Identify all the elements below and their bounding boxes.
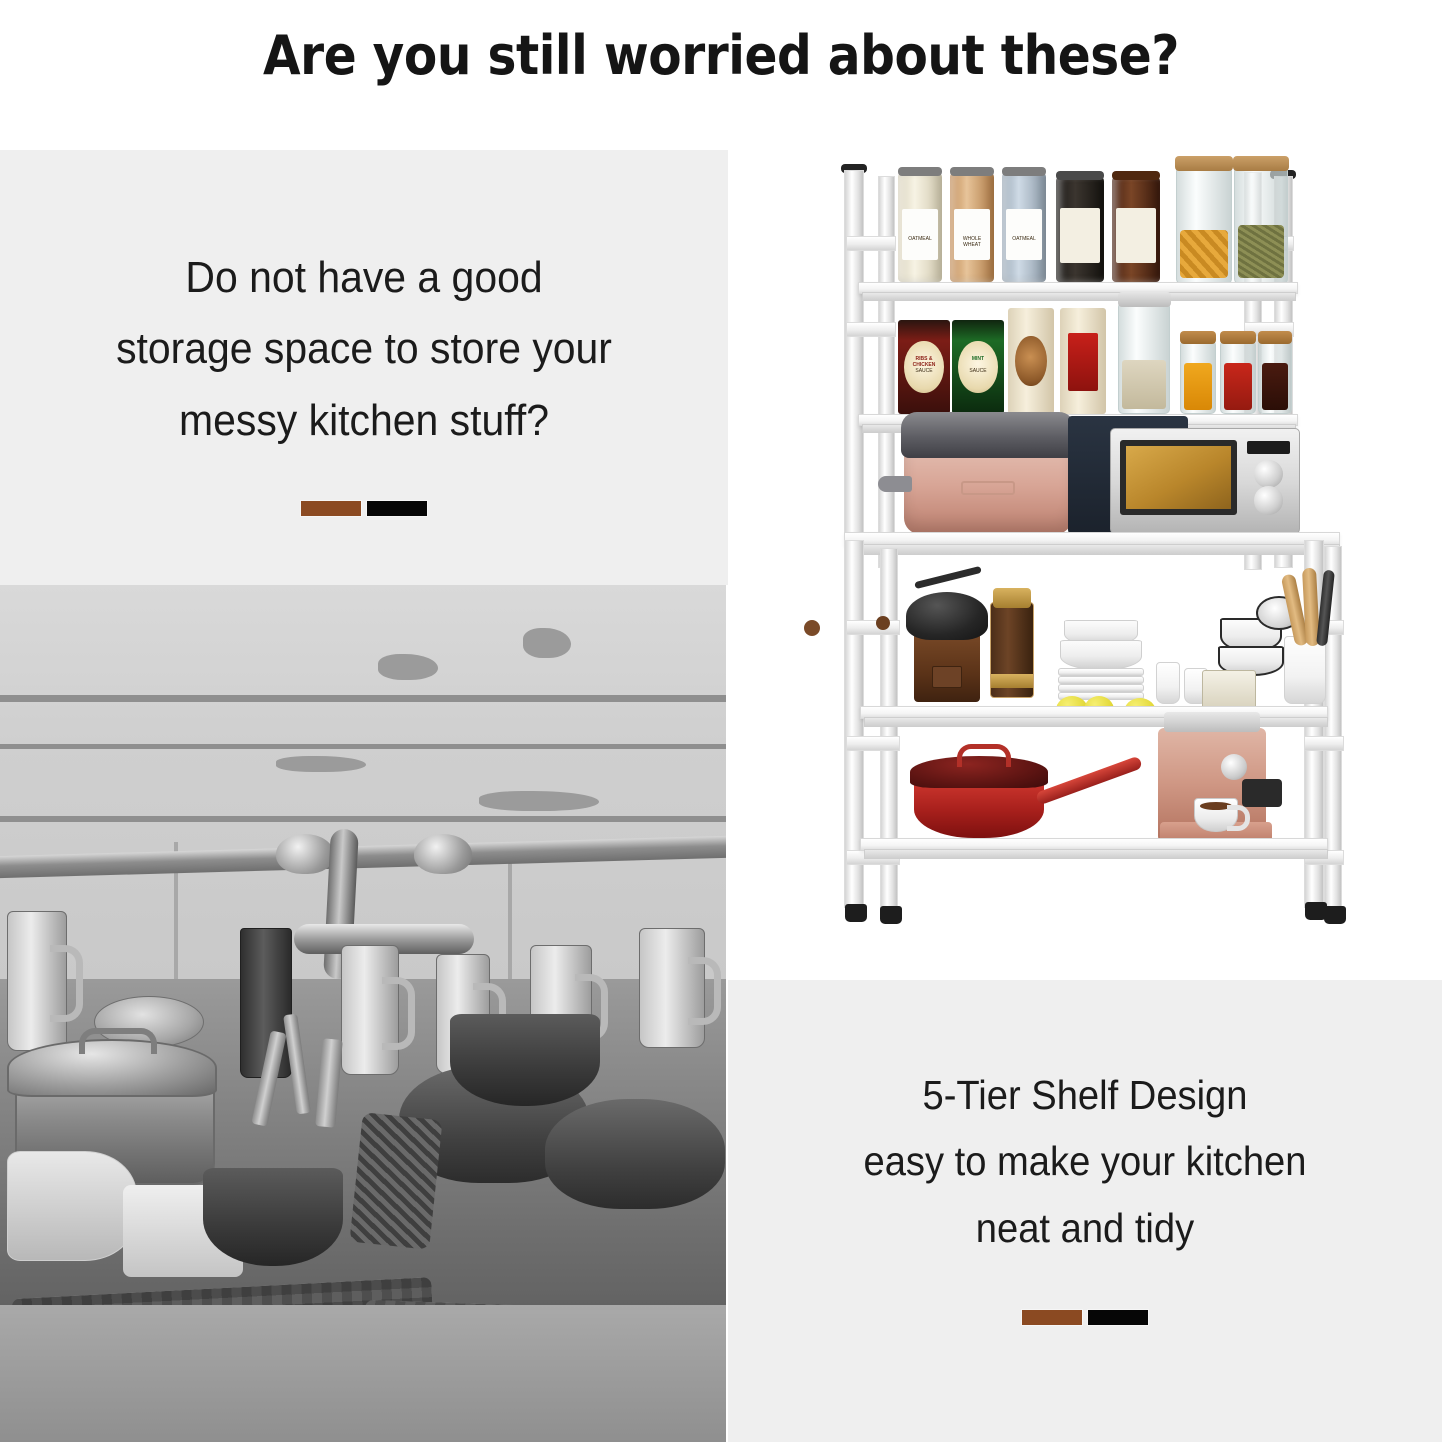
paint-chip bbox=[276, 756, 366, 772]
jar-lid bbox=[1112, 171, 1160, 180]
stacked-plate bbox=[1058, 668, 1144, 676]
foot-right-front bbox=[1324, 906, 1346, 924]
sauce-tin-title: MINT bbox=[958, 356, 998, 362]
sauce-tin-sub: SAUCE bbox=[904, 368, 944, 374]
coffee-grinder-dome bbox=[906, 592, 988, 640]
jar-lid-wood bbox=[1175, 156, 1232, 171]
rice-cooker-badge bbox=[961, 481, 1015, 495]
pasta-contents bbox=[1180, 230, 1228, 279]
canister-lid bbox=[898, 167, 942, 176]
dirty-bowl bbox=[203, 1168, 343, 1266]
jar-contents bbox=[1122, 360, 1166, 408]
cocoa-box-art bbox=[1015, 336, 1046, 387]
clamp-lid bbox=[1118, 292, 1171, 307]
hutch-rail-left bbox=[846, 236, 896, 251]
hutch-shelf-top-edge bbox=[862, 292, 1296, 301]
french-press-base-ring bbox=[991, 674, 1033, 687]
worktop-shelf-edge bbox=[848, 544, 1340, 555]
dirty-mug bbox=[341, 945, 399, 1075]
dirty-glass bbox=[639, 928, 705, 1048]
red-frying-pan bbox=[914, 776, 1044, 838]
problem-line-3: messy kitchen stuff? bbox=[25, 385, 702, 456]
jar-label bbox=[1060, 208, 1099, 263]
ceramic-canister bbox=[1202, 670, 1256, 710]
solution-copy: 5-Tier Shelf Design easy to make your ki… bbox=[753, 1062, 1417, 1261]
grout-line bbox=[0, 744, 726, 749]
product-photo: OATMEAL WHOLE WHEAT OATMEAL RIBS & CHICK… bbox=[728, 150, 1442, 980]
sauce-tin-label: RIBS & CHICKEN SAUCE bbox=[904, 341, 944, 394]
spice-box bbox=[1060, 308, 1106, 414]
espresso-cup bbox=[1194, 798, 1238, 832]
foot-left-front bbox=[880, 906, 902, 924]
coffee-surface bbox=[1200, 802, 1232, 810]
canister-whole-wheat: WHOLE WHEAT bbox=[950, 172, 994, 282]
messy-kitchen-photo bbox=[0, 585, 726, 1442]
sauce-jar-dark bbox=[1056, 176, 1104, 282]
spice-jar-lid bbox=[1258, 331, 1292, 344]
dirty-pan bbox=[545, 1099, 725, 1209]
canister-label-text: WHOLE WHEAT bbox=[954, 236, 990, 248]
spice-jar-contents bbox=[1224, 363, 1253, 411]
grout-line bbox=[0, 816, 726, 822]
espresso-top-tray bbox=[1164, 712, 1259, 732]
sauce-tin-mint: MINT SAUCE bbox=[952, 320, 1004, 414]
spice-jar-lid bbox=[1220, 331, 1256, 344]
hutch-rail-left bbox=[846, 322, 896, 337]
canister-label: OATMEAL bbox=[902, 209, 938, 260]
hutch-post-left-back bbox=[844, 170, 864, 570]
dirty-jar bbox=[7, 911, 67, 1051]
spice-jar-contents bbox=[1184, 363, 1213, 411]
jar-lid-wood bbox=[1233, 156, 1288, 171]
problem-line-2: storage space to store your bbox=[25, 313, 702, 384]
microwave-control-panel bbox=[1245, 437, 1294, 524]
red-pan-handle bbox=[1035, 756, 1143, 806]
stacked-bowl-bottom bbox=[1060, 640, 1142, 670]
paint-chip bbox=[523, 628, 571, 658]
sauce-jar-amber bbox=[1112, 176, 1160, 282]
foot-left-back bbox=[845, 904, 867, 922]
side-hook-lower bbox=[876, 616, 890, 630]
spice-box-art bbox=[1068, 333, 1097, 390]
paint-chip bbox=[378, 654, 438, 680]
pot-lid bbox=[7, 1039, 217, 1097]
jar-lid bbox=[1056, 171, 1104, 180]
dirty-bowl bbox=[450, 1014, 600, 1106]
canister-label: WHOLE WHEAT bbox=[954, 209, 990, 260]
utensil-crock bbox=[1284, 636, 1326, 704]
canister-label: OATMEAL bbox=[1006, 209, 1042, 260]
paint-chip bbox=[479, 791, 599, 811]
glass-jar-grain bbox=[1234, 166, 1288, 284]
base-rail-left-mid bbox=[846, 736, 900, 751]
sauce-tin-label: MINT SAUCE bbox=[958, 341, 998, 394]
solution-line-2: easy to make your kitchen bbox=[753, 1128, 1417, 1194]
stacked-plate bbox=[1058, 676, 1144, 684]
spice-jar-lid bbox=[1180, 331, 1216, 344]
bakers-rack: OATMEAL WHOLE WHEAT OATMEAL RIBS & CHICK… bbox=[728, 150, 1442, 980]
rice-cooker bbox=[904, 446, 1072, 534]
coffee-grinder-drawer bbox=[932, 666, 962, 688]
canister-oatmeal-1: OATMEAL bbox=[898, 172, 942, 282]
canister-oatmeal-2: OATMEAL bbox=[1002, 172, 1046, 282]
divider-bar-brown bbox=[1021, 1309, 1083, 1326]
spice-jar-contents bbox=[1262, 363, 1289, 411]
microwave-display bbox=[1247, 441, 1290, 454]
jar-label bbox=[1116, 208, 1155, 263]
grout-line bbox=[0, 695, 726, 702]
stacked-plate bbox=[1058, 684, 1144, 692]
problem-line-1: Do not have a good bbox=[25, 242, 702, 313]
divider-bar-brown bbox=[300, 500, 362, 517]
problem-panel: Do not have a good storage space to stor… bbox=[0, 150, 728, 585]
solution-divider bbox=[1021, 1309, 1149, 1326]
faucet-knob bbox=[276, 834, 334, 874]
microwave bbox=[1110, 428, 1300, 534]
french-press-lid bbox=[993, 588, 1032, 608]
problem-copy: Do not have a good storage space to stor… bbox=[25, 242, 702, 456]
rice-cooker-handle bbox=[878, 476, 912, 492]
faucet-knob bbox=[414, 834, 472, 874]
red-pan-lid bbox=[910, 756, 1048, 788]
divider-bar-black bbox=[1087, 1309, 1149, 1326]
side-hook-upper bbox=[804, 620, 820, 636]
divider-bar-black bbox=[366, 500, 428, 517]
microwave-knob-upper bbox=[1254, 460, 1282, 488]
tile-wall bbox=[0, 585, 726, 979]
microwave-knob-lower bbox=[1254, 486, 1282, 514]
bottom-shelf-edge bbox=[864, 849, 1328, 859]
french-press bbox=[990, 602, 1034, 698]
canister-label-text: OATMEAL bbox=[1006, 236, 1042, 242]
page-title: Are you still worried about these? bbox=[72, 24, 1370, 87]
microwave-door bbox=[1120, 440, 1237, 515]
coffee-grinder-crank bbox=[914, 566, 982, 589]
canister-lid bbox=[950, 167, 994, 176]
canister-lid bbox=[1002, 167, 1046, 176]
canister-label-text: OATMEAL bbox=[902, 236, 938, 242]
sauce-tin-ribs: RIBS & CHICKEN SAUCE bbox=[898, 320, 950, 414]
solution-panel: 5-Tier Shelf Design easy to make your ki… bbox=[728, 980, 1442, 1442]
sauce-tin-sub: SAUCE bbox=[958, 368, 998, 374]
scrub-sponge bbox=[349, 1113, 442, 1251]
cocoa-box bbox=[1008, 308, 1054, 414]
espresso-group-head bbox=[1242, 779, 1282, 807]
solution-line-1: 5-Tier Shelf Design bbox=[753, 1062, 1417, 1128]
glass-jar-pasta bbox=[1176, 166, 1232, 284]
grain-contents bbox=[1238, 225, 1284, 278]
base-rail-left-upper bbox=[846, 620, 900, 635]
sauce-tin-title: RIBS & CHICKEN bbox=[904, 356, 944, 368]
clamp-glass-jar bbox=[1118, 302, 1170, 414]
soap-dispenser-1 bbox=[1156, 662, 1180, 704]
hutch-post-left-front bbox=[878, 176, 895, 568]
counter-edge bbox=[0, 1305, 726, 1442]
solution-line-3: neat and tidy bbox=[753, 1195, 1417, 1261]
base-rail-right-mid bbox=[1304, 736, 1344, 751]
dirty-bowl bbox=[7, 1151, 137, 1261]
spice-jar-orange bbox=[1180, 340, 1216, 414]
espresso-dial bbox=[1221, 754, 1247, 780]
rice-cooker-lid bbox=[901, 412, 1076, 458]
spice-jar-dark bbox=[1258, 340, 1292, 414]
problem-divider bbox=[300, 500, 428, 517]
spice-jar-red bbox=[1220, 340, 1256, 414]
